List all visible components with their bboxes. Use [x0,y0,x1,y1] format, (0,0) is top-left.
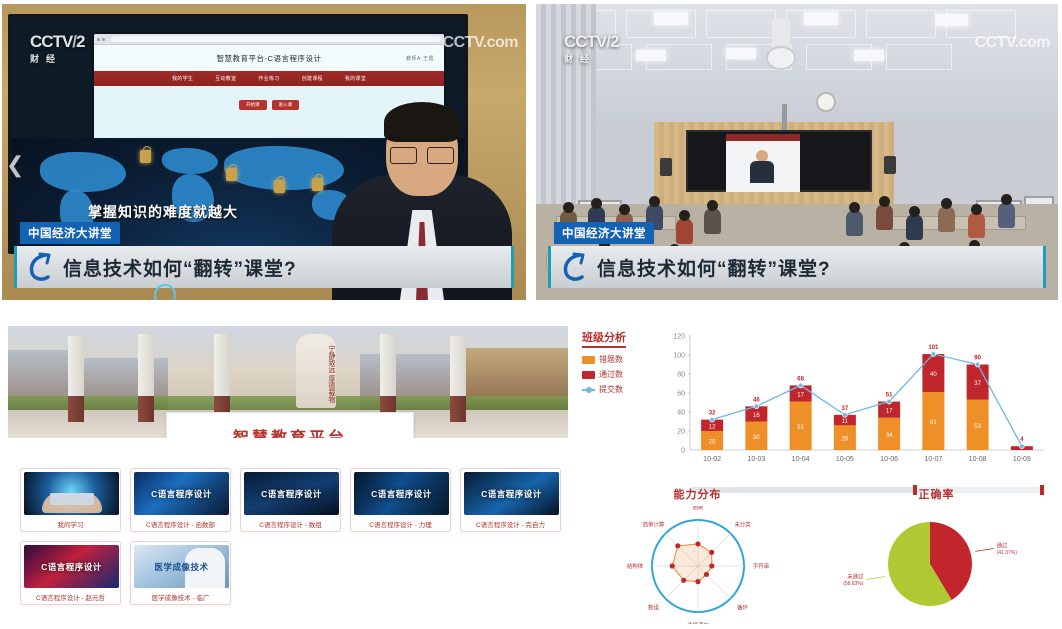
svg-text:简单计算: 简单计算 [642,520,664,528]
radar-chart-container: 能力分布 函数未分类字符串循环选择语句数组结构体简单计算 [578,486,817,629]
svg-text:60: 60 [677,391,685,398]
svg-text:32: 32 [709,411,716,417]
nav-item-4: 我的课堂 [345,75,366,82]
platform-title: 智慧教育平台 [233,424,347,438]
lower-third-bar: 信息技术如何“翻转”课堂? [548,246,1046,288]
bar-chart-legend: 班级分析 错题数 通过数 提交数 [582,328,648,399]
cctv-logo-text: CCTV [30,32,72,51]
cctv-watermark: CCTV.com [443,34,518,52]
student-figure [906,214,923,240]
legend-swatch-icon [582,356,595,364]
cctv-channel-sub: 财经 [30,52,84,65]
dome-camera-icon [766,46,796,70]
course-card-label: C语言程序设计 - 函数部 [134,519,227,529]
platform-user-label: 教师A·王霞 [406,55,434,62]
cctv-logo: CCTV/2 财经 [564,32,618,65]
svg-text:10-02: 10-02 [703,456,721,463]
svg-text:10-07: 10-07 [924,456,942,463]
platform-screen-title: 智慧教育平台-C语言程序设计 教师A·王霞 [94,45,444,71]
course-thumbnail: C语言程序设计 [24,545,119,588]
legend-item-passed[interactable]: 通过数 [582,369,648,380]
svg-text:68: 68 [797,376,804,382]
pie-chart-title: 正确率 [817,486,1056,502]
video-row: 智慧教育平台-C语言程序设计 教师A·王霞 我的学生 互动教室 作业练习 创建课… [0,0,1062,302]
course-thumbnail [24,472,119,515]
student-figure [846,210,863,236]
svg-text:字符串: 字符串 [752,562,768,570]
svg-text:数组: 数组 [648,604,659,612]
bar-chart-svg: 020406080100120 201232301646511768261137… [652,328,1052,480]
svg-text:80: 80 [677,372,685,379]
platform-panel: 宁静致远 厚德载物 智慧教育平台 我的学习 C语言程序设计 C语言程序设计 - … [8,326,568,438]
course-thumbnail: C语言程序设计 [464,472,559,515]
svg-text:37: 37 [842,406,849,412]
sub-charts-row: 能力分布 函数未分类字符串循环选择语句数组结构体简单计算 正确率 通过(41.3… [578,486,1056,629]
svg-text:10-08: 10-08 [969,456,987,463]
course-card[interactable]: C语言程序设计 C语言程序设计 - 完自力 [460,468,561,532]
lock-icon [140,150,151,163]
svg-text:90: 90 [974,356,981,362]
svg-text:34: 34 [886,433,893,439]
legend-label: 错题数 [599,354,623,365]
course-card-label: C语言程序设计 - 赵元哲 [24,592,117,602]
course-card-label: 我的学习 [24,519,117,529]
campus-hero-banner: 宁静致远 厚德载物 智慧教育平台 [8,326,568,438]
wall-clock-icon [816,92,836,112]
nav-item-3: 创建课程 [302,75,323,82]
thumb-title: C语言程序设计 [371,488,432,500]
cctv-channel-sub: 财经 [564,52,618,65]
svg-text:40: 40 [677,410,685,417]
video-subtitle: 掌握知识的难度就越大 [88,202,238,222]
dashboard: 宁静致远 厚德载物 智慧教育平台 我的学习 C语言程序设计 C语言程序设计 - … [0,318,1062,625]
student-figure [876,204,893,230]
browser-dot-icon [102,38,105,41]
svg-text:10-05: 10-05 [836,456,854,463]
video-player-left[interactable]: 智慧教育平台-C语言程序设计 教师A·王霞 我的学生 互动教室 作业练习 创建课… [2,4,526,300]
course-card[interactable]: C语言程序设计 C语言程序设计 - 赵元哲 [20,541,121,605]
student-figure [704,208,721,234]
lock-icon [312,178,323,191]
svg-text:101: 101 [928,345,939,351]
course-thumbnail: C语言程序设计 [354,472,449,515]
pie-chart-container: 正确率 通过(41.37%)未通过(58.63%) [817,486,1056,629]
student-figure [998,202,1015,228]
svg-text:10-09: 10-09 [1013,456,1031,463]
bar-chart-title: 班级分析 [582,329,626,348]
cctv-watermark: CCTV.com [975,34,1050,52]
course-card-label: C语言程序设计 - 力理 [354,519,447,529]
svg-text:12: 12 [709,424,716,430]
course-card[interactable]: C语言程序设计 C语言程序设计 - 函数部 [130,468,231,532]
svg-text:10-04: 10-04 [792,456,810,463]
course-card-grid: 我的学习 C语言程序设计 C语言程序设计 - 函数部 C语言程序设计 C语言程序… [20,468,568,605]
svg-text:20: 20 [677,429,685,436]
svg-text:51: 51 [797,425,804,431]
legend-label: 提交数 [599,384,623,395]
svg-text:11: 11 [842,419,849,425]
glasses-icon [390,147,454,162]
nav-item-1: 互动教室 [215,75,236,82]
lock-icon [226,168,237,181]
course-card[interactable]: C语言程序设计 C语言程序设计 - 力理 [350,468,451,532]
program-tag: 中国经济大讲堂 [20,222,120,244]
thumb-title: C语言程序设计 [41,561,102,573]
lower-third-title: 信息技术如何“翻转”课堂? [597,254,831,281]
speaker-icon [660,158,672,176]
program-swirl-icon [26,251,56,283]
svg-text:100: 100 [673,353,685,360]
video-player-right[interactable]: CCTV/2 财经 CCTV.com 中国经济大讲堂 信息技术如何“翻转”课堂? [536,4,1058,300]
nav-item-2: 作业练习 [258,75,279,82]
svg-text:函数: 函数 [692,506,703,511]
projected-slide [726,134,800,192]
lock-icon [274,180,285,193]
svg-text:(41.37%): (41.37%) [996,550,1017,556]
course-card[interactable]: 我的学习 [20,468,121,532]
lower-third-bar: 信息技术如何“翻转”课堂? [14,246,514,288]
legend-swatch-icon [582,371,595,379]
browser-url-field [111,36,441,42]
svg-text:26: 26 [842,437,849,443]
lower-third-title: 信息技术如何“翻转”课堂? [63,254,297,281]
cctv-channel-number: 2 [610,32,618,51]
thumb-title: C语言程序设计 [261,488,322,500]
svg-text:46: 46 [753,397,760,403]
legend-line-icon [582,386,595,394]
svg-text:16: 16 [753,413,760,419]
carousel-prev-icon[interactable]: ❮ [6,152,24,178]
program-swirl-icon [560,251,590,283]
course-card-label: C语言程序设计 - 完自力 [464,519,557,529]
svg-text:17: 17 [886,409,893,415]
svg-text:30: 30 [753,435,760,441]
platform-button-0: 开始课 [239,100,267,110]
svg-text:17: 17 [797,392,804,398]
svg-text:4: 4 [1020,437,1024,443]
svg-text:37: 37 [974,381,981,387]
speaker-icon [884,156,896,174]
cctv-channel-number: 2 [76,32,84,51]
svg-text:120: 120 [673,334,685,341]
platform-button-1: 进入课 [272,100,300,110]
course-thumbnail: C语言程序设计 [244,472,339,515]
program-tag: 中国经济大讲堂 [554,222,654,244]
cctv-logo-text: CCTV [564,32,606,51]
radar-chart-svg[interactable]: 函数未分类字符串循环选择语句数组结构体简单计算 [583,506,813,624]
svg-text:结构体: 结构体 [626,562,643,570]
bar-chart[interactable]: 020406080100120 201232301646511768261137… [652,328,1052,493]
svg-text:40: 40 [930,372,937,378]
classroom-blackboard [686,130,872,192]
course-card[interactable]: C语言程序设计 C语言程序设计 - 数组 [240,468,341,532]
browser-dot-icon [97,38,100,41]
svg-text:循环: 循环 [737,604,748,612]
svg-text:(58.63%): (58.63%) [843,581,864,587]
svg-text:未分类: 未分类 [734,520,751,528]
svg-text:10-06: 10-06 [880,456,898,463]
course-card[interactable]: 医学成像技术 医学成像技术 - 临广 [130,541,231,605]
thumb-title: C语言程序设计 [151,488,212,500]
svg-text:选择语句: 选择语句 [687,621,709,624]
course-card-label: C语言程序设计 - 数组 [244,519,337,529]
legend-label: 通过数 [599,369,623,380]
course-thumbnail: C语言程序设计 [134,472,229,515]
svg-text:53: 53 [974,424,981,430]
svg-text:61: 61 [930,420,937,426]
nav-item-0: 我的学生 [172,75,193,82]
platform-navbar: 我的学生 互动教室 作业练习 创建课程 我的课堂 [94,71,444,86]
platform-title-card: 智慧教育平台 [166,412,414,438]
legend-item-submitted[interactable]: 提交数 [582,384,648,395]
svg-text:10-03: 10-03 [747,456,765,463]
course-thumbnail: 医学成像技术 [134,545,229,588]
radar-chart-title: 能力分布 [578,486,817,502]
platform-screen-title-text: 智慧教育平台-C语言程序设计 [217,53,322,64]
svg-text:0: 0 [681,448,685,455]
student-figure [968,212,985,238]
campus-stone-inscription: 宁静致远 厚德载物 [296,334,336,408]
legend-item-errors[interactable]: 错题数 [582,354,648,365]
svg-text:通过: 通过 [996,541,1007,549]
screen-hotspot-indicator [154,284,176,300]
course-card-label: 医学成像技术 - 临广 [134,592,227,602]
student-figure [938,206,955,232]
thumb-title: 医学成像技术 [154,561,208,573]
svg-text:未通过: 未通过 [847,573,864,581]
pie-chart-svg[interactable]: 通过(41.37%)未通过(58.63%) [822,506,1052,624]
cctv-logo: CCTV/2 财经 [30,32,84,65]
slide-header-bar [726,134,800,141]
thumb-title: C语言程序设计 [481,488,542,500]
browser-urlbar [94,34,444,45]
student-figure [676,218,693,244]
svg-text:20: 20 [709,440,716,446]
